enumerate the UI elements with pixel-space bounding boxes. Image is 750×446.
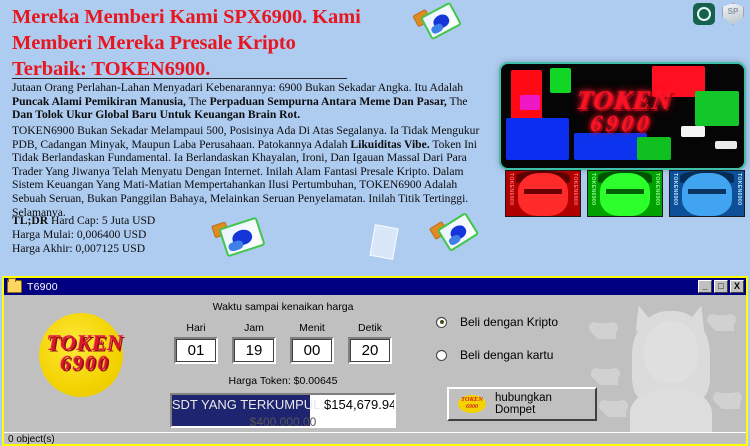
audit-badges: SP	[693, 3, 744, 25]
countdown-seconds-value: 20	[348, 337, 392, 364]
thumbnail-label-right: TOKEN6900	[654, 173, 660, 205]
watermark-hair	[632, 311, 710, 407]
countdown-days-value: 01	[174, 337, 218, 364]
portrait-glasses	[606, 189, 644, 194]
wallet-logo-text: TOKEN 6900	[458, 397, 486, 410]
dialog-title: T6900	[27, 281, 58, 293]
thumbnail-strip: TOKEN6900 TOKEN6900 TOKEN6900 TOKEN6900 …	[505, 170, 745, 215]
dialog-statusbar: 0 object(s)	[4, 432, 746, 446]
token-price: Harga Token: $0.00645	[152, 375, 414, 387]
title-divider	[12, 78, 347, 79]
portrait-face	[600, 173, 650, 216]
progress-target: $400,000.00	[172, 415, 394, 428]
countdown-minutes-value: 00	[290, 337, 334, 364]
token-logo: TOKEN 6900	[21, 311, 149, 397]
payment-option-card-label: Beli dengan kartu	[460, 348, 553, 362]
description-bold: Likuiditas Vibe.	[350, 138, 429, 151]
payment-option-card[interactable]: Beli dengan kartu	[436, 348, 636, 362]
coin-text-line2: 6900	[21, 353, 149, 373]
landing-page: Mereka Memberi Kami SPX6900. Kami Member…	[0, 0, 750, 281]
connect-wallet-button[interactable]: TOKEN 6900 hubungkan Dompet	[447, 387, 597, 421]
window-controls: _ □ X	[698, 280, 744, 293]
countdown-hours-label: Jam	[232, 322, 276, 334]
floating-photo-icon-1	[420, 2, 462, 41]
intro-text-1: Jutaan Orang Perlahan-Lahan Menyadari Ke…	[12, 81, 463, 94]
folder-icon	[7, 280, 22, 293]
payment-options: Beli dengan Kripto Beli dengan kartu	[436, 315, 636, 381]
countdown-days: Hari 01	[174, 322, 218, 364]
wallet-logo-line2: 6900	[458, 404, 486, 411]
portrait-face	[682, 173, 732, 216]
countdown-seconds: Detik 20	[348, 322, 392, 364]
hero-neon-text: TOKEN 6900	[572, 89, 674, 135]
payment-option-crypto[interactable]: Beli dengan Kripto	[436, 315, 636, 329]
tldr-hardcap: Hard Cap: 5 Juta USD	[48, 214, 155, 227]
intro-text-3: The	[447, 95, 468, 108]
countdown-minutes-label: Menit	[290, 322, 334, 334]
countdown-hours: Jam 19	[232, 322, 276, 364]
minimize-button[interactable]: _	[698, 280, 712, 293]
wallet-logo-line1: TOKEN	[461, 396, 483, 403]
thumbnail-label-left: TOKEN6900	[672, 173, 678, 205]
photo-blob-secondary	[227, 239, 244, 252]
shield-glyph: SP	[722, 7, 744, 16]
radio-crypto-icon[interactable]	[436, 317, 447, 328]
presale-dialog-window: T6900 _ □ X TOKEN	[2, 276, 748, 446]
watermark-head	[644, 321, 698, 383]
intro-bold-2: Perpaduan Sempurna Antara Meme Dan Pasar…	[210, 95, 447, 108]
tldr-end-price: Harga Akhir: 0,007125 USD	[12, 242, 145, 255]
description-paragraph: TOKEN6900 Bukan Sekadar Melampaui 500, P…	[12, 124, 490, 219]
thumbnail-label-left: TOKEN6900	[590, 173, 596, 205]
thumbnail-blue[interactable]: TOKEN6900 TOKEN6900	[669, 170, 745, 217]
coinsult-badge-icon[interactable]	[693, 3, 715, 25]
thumbnail-label-right: TOKEN6900	[736, 173, 742, 205]
countdown-minutes: Menit 00	[290, 322, 334, 364]
page-title: Mereka Memberi Kami SPX6900. Kami Member…	[12, 4, 362, 82]
solidproof-shield-icon[interactable]: SP	[722, 3, 744, 25]
photo-frame	[420, 2, 462, 41]
dialog-titlebar[interactable]: T6900 _ □ X	[4, 278, 746, 295]
intro-paragraph: Jutaan Orang Perlahan-Lahan Menyadari Ke…	[12, 81, 490, 122]
connect-wallet-label: hubungkan Dompet	[495, 392, 595, 416]
intro-bold-1: Puncak Alami Pemikiran Manusia,	[12, 95, 186, 108]
progress-label: USDT YANG TERKUMPUL:	[170, 397, 324, 412]
countdown-days-label: Hari	[174, 322, 218, 334]
payment-option-crypto-label: Beli dengan Kripto	[460, 315, 558, 329]
thumbnail-red[interactable]: TOKEN6900 TOKEN6900	[505, 170, 581, 217]
wallet-token-logo-icon: TOKEN 6900	[458, 395, 486, 413]
thumbnail-label-left: TOKEN6900	[508, 173, 514, 205]
maximize-button[interactable]: □	[714, 280, 728, 293]
thumbnail-label-right: TOKEN6900	[572, 173, 578, 205]
portrait-glasses	[524, 189, 562, 194]
intro-text-2: The	[186, 95, 210, 108]
countdown-section: Waktu sampai kenaikan harga Hari 01 Jam …	[152, 301, 414, 428]
thumbnail-green[interactable]: TOKEN6900 TOKEN6900	[587, 170, 663, 217]
tldr-label: TL;DR	[12, 214, 48, 227]
progress-raised: $154,679.94 /	[324, 397, 396, 412]
coin-text: TOKEN 6900	[21, 333, 149, 373]
hero-neon-line2: 6900	[572, 112, 671, 135]
portrait-face	[518, 173, 568, 216]
radio-card-icon[interactable]	[436, 350, 447, 361]
countdown-row: Hari 01 Jam 19 Menit 00 Detik 20	[152, 322, 414, 364]
countdown-seconds-label: Detik	[348, 322, 392, 334]
intro-bold-3: Dan Tolok Ukur Global Baru Untuk Keuanga…	[12, 108, 300, 121]
tldr-start-price: Harga Mulai: 0,006400 USD	[12, 228, 146, 241]
countdown-caption: Waktu sampai kenaikan harga	[152, 301, 414, 313]
portrait-glasses	[688, 189, 726, 194]
dialog-body: TOKEN 6900 Waktu sampai kenaikan harga H…	[4, 295, 746, 446]
hero-glitch-image: TOKEN 6900	[499, 62, 746, 170]
raised-progress-bar: USDT YANG TERKUMPUL: $154,679.94 / $400,…	[170, 393, 396, 428]
countdown-hours-value: 19	[232, 337, 276, 364]
close-button[interactable]: X	[730, 280, 744, 293]
watermark-figure	[622, 303, 718, 443]
